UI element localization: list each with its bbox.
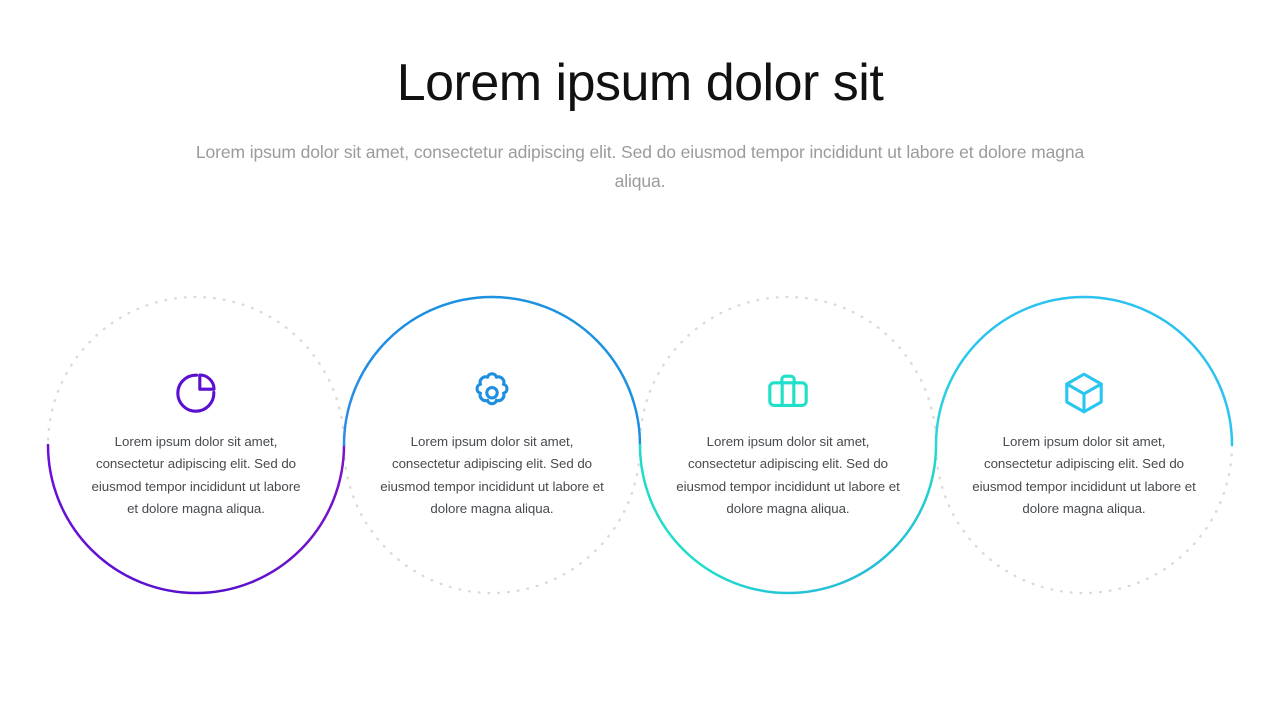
circle-content-3: Lorem ipsum dolor sit amet, consectetur … — [640, 297, 936, 593]
circle-description-1: Lorem ipsum dolor sit amet, consectetur … — [91, 431, 301, 520]
circle-description-2: Lorem ipsum dolor sit amet, consectetur … — [376, 431, 608, 520]
pie-chart-icon — [172, 369, 220, 417]
cube-icon — [1060, 369, 1108, 417]
circle-item-2[interactable]: Lorem ipsum dolor sit amet, consectetur … — [344, 297, 640, 593]
circle-content-4: Lorem ipsum dolor sit amet, consectetur … — [936, 297, 1232, 593]
circle-description-4: Lorem ipsum dolor sit amet, consectetur … — [968, 431, 1200, 520]
circle-item-4[interactable]: Lorem ipsum dolor sit amet, consectetur … — [936, 297, 1232, 593]
circle-content-1: Lorem ipsum dolor sit amet, consectetur … — [48, 297, 344, 593]
circle-item-3[interactable]: Lorem ipsum dolor sit amet, consectetur … — [640, 297, 936, 593]
infographic-circles: Lorem ipsum dolor sit amet, consectetur … — [0, 0, 1280, 720]
circle-description-3: Lorem ipsum dolor sit amet, consectetur … — [672, 431, 904, 520]
circle-content-2: Lorem ipsum dolor sit amet, consectetur … — [344, 297, 640, 593]
gear-icon — [468, 369, 516, 417]
circle-item-1[interactable]: Lorem ipsum dolor sit amet, consectetur … — [48, 297, 344, 593]
briefcase-icon — [764, 369, 812, 417]
